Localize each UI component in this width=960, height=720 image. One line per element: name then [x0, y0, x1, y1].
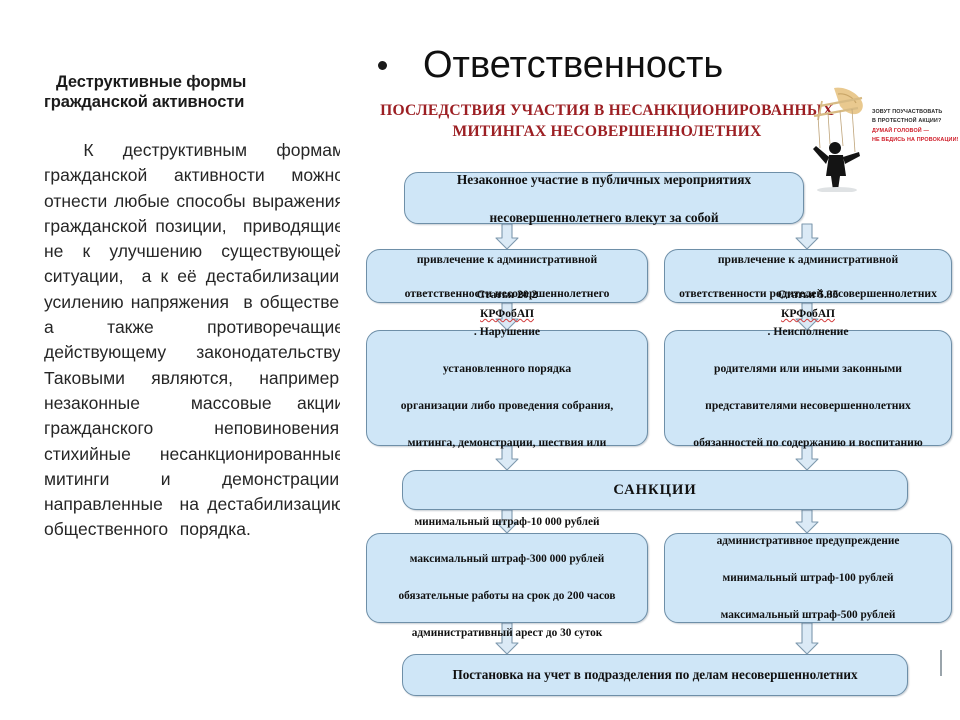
node-bottom-label: Постановка на учет в подразделения по де… [409, 667, 901, 683]
node-left-branch-line1: привлечение к административной [373, 251, 641, 268]
node-sanctions-label: САНКЦИИ [409, 482, 901, 499]
node-left-article-code: КРФобАП [373, 305, 641, 324]
left-heading-line2: гражданской активности [44, 92, 340, 112]
node-left-sanction-line3: обязательные работы на срок до 200 часов [373, 587, 641, 606]
node-top: Незаконное участие в публичных мероприят… [404, 172, 804, 224]
left-heading-line1: Деструктивные формы [56, 73, 246, 91]
node-left-sanction: минимальный штраф-10 000 рублей максимал… [366, 533, 648, 623]
node-right-article-prefix: Статья 5.35 [671, 286, 945, 305]
node-top-line2: несовершеннолетнего влекут за собой [411, 208, 797, 227]
node-left-article-line4: митинга, демонстрации, шествия или [373, 434, 641, 453]
node-left-article-rest: . Нарушение [373, 323, 641, 342]
node-bottom: Постановка на учет в подразделения по де… [402, 654, 908, 696]
node-left-article-line2: установленного порядка [373, 360, 641, 379]
node-sanctions: САНКЦИИ [402, 470, 908, 510]
node-right-article-code: КРФобАП [671, 305, 945, 324]
node-right-branch-line1: привлечение к административной [671, 251, 945, 268]
node-right-sanction-line2: минимальный штраф-100 рублей [671, 569, 945, 588]
left-body-text: К деструктивным формам гражданской актив… [44, 138, 340, 543]
text-cursor-artifact [940, 650, 942, 676]
node-right-article: Статья 5.35 КРФобАП. Неисполнение родите… [664, 330, 952, 446]
node-top-line1: Незаконное участие в публичных мероприят… [411, 170, 797, 189]
node-left-sanction-line2: максимальный штраф-300 000 рублей [373, 550, 641, 569]
node-right-article-line2: родителями или иными законными [671, 360, 945, 379]
node-left-article: Статья 20.2 КРФобАП. Нарушение установле… [366, 330, 648, 446]
node-left-article-line3: организации либо проведения собрания, [373, 397, 641, 416]
page-title: Ответственность [423, 46, 723, 84]
bullet-dot-icon [378, 61, 387, 70]
left-text-panel: Деструктивные формы гражданской активнос… [44, 72, 340, 632]
node-right-article-rest: . Неисполнение [671, 323, 945, 342]
node-right-sanction-line1: административное предупреждение [671, 532, 945, 551]
node-right-sanction: административное предупреждение минималь… [664, 533, 952, 623]
node-right-article-line3: представителями несовершеннолетних [671, 397, 945, 416]
consequences-diagram: ПОСЛЕДСТВИЯ УЧАСТИЯ В НЕСАНКЦИОНИРОВАННЫ… [352, 92, 960, 710]
node-left-article-prefix: Статья 20.2 [373, 286, 641, 305]
left-heading: Деструктивные формы гражданской активнос… [44, 72, 340, 112]
node-left-sanction-line4: административный арест до 30 суток [373, 624, 641, 643]
node-right-article-line4: обязанностей по содержанию и воспитанию [671, 434, 945, 453]
node-right-sanction-line3: максимальный штраф-500 рублей [671, 606, 945, 625]
node-left-sanction-line1: минимальный штраф-10 000 рублей [373, 513, 641, 532]
